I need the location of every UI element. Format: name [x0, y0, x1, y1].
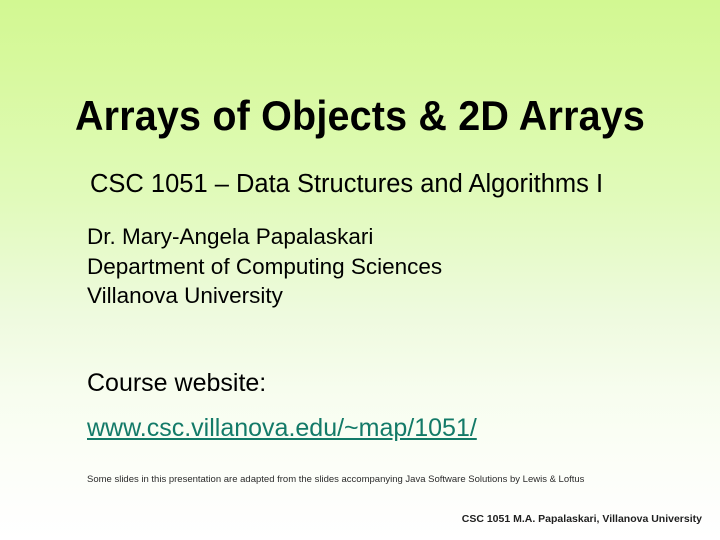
- author-name: Dr. Mary-Angela Papalaskari: [87, 222, 442, 252]
- course-website-block: Course website: www.csc.villanova.edu/~m…: [87, 361, 477, 451]
- presentation-slide: Arrays of Objects & 2D Arrays CSC 1051 –…: [0, 0, 720, 540]
- author-department: Department of Computing Sciences: [87, 252, 442, 282]
- slide-subtitle: CSC 1051 – Data Structures and Algorithm…: [90, 168, 603, 200]
- credit-note: Some slides in this presentation are ada…: [87, 474, 584, 486]
- author-block: Dr. Mary-Angela Papalaskari Department o…: [87, 222, 442, 311]
- course-website-label: Course website:: [87, 361, 477, 406]
- slide-footer: CSC 1051 M.A. Papalaskari, Villanova Uni…: [0, 512, 702, 526]
- slide-title: Arrays of Objects & 2D Arrays: [22, 92, 699, 140]
- course-website-link[interactable]: www.csc.villanova.edu/~map/1051/: [87, 406, 477, 451]
- author-institution: Villanova University: [87, 281, 442, 311]
